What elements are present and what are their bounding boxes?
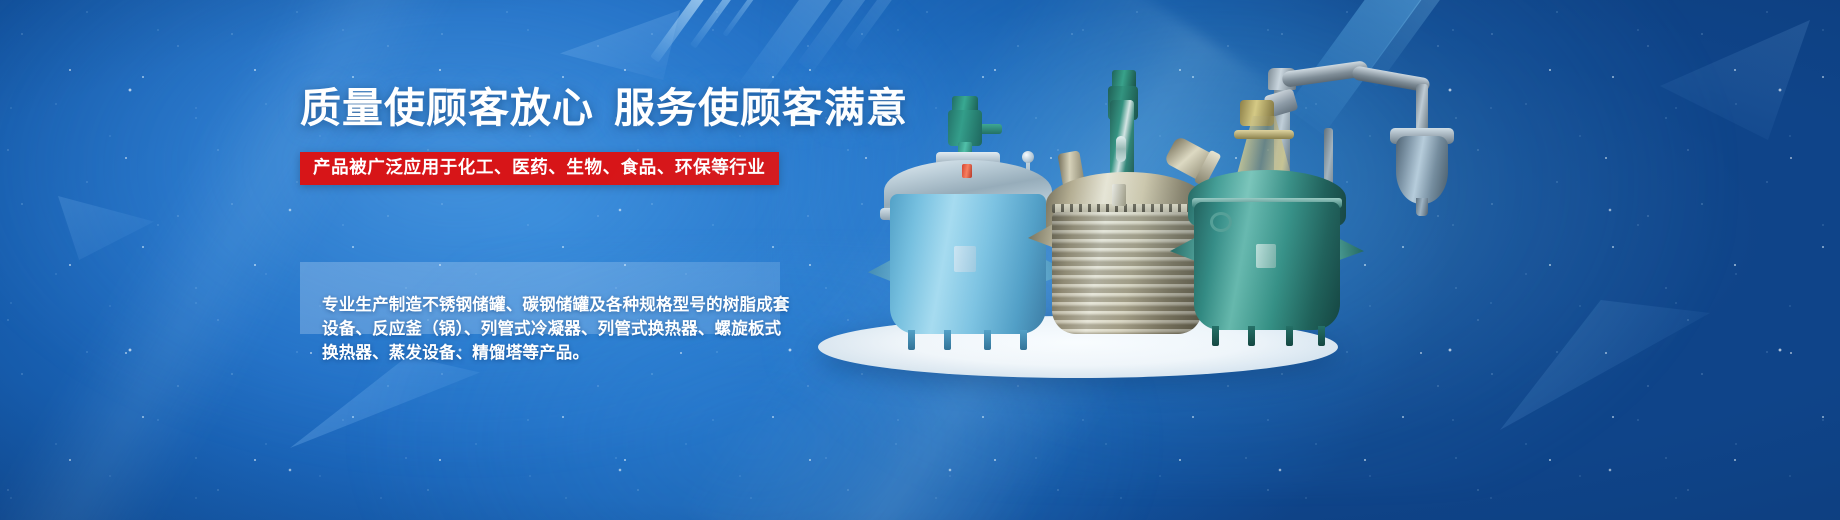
blue-reactor-gearbox — [948, 110, 982, 146]
blue-reactor-leg-3 — [984, 330, 991, 350]
blue-reactor-leg-1 — [908, 330, 915, 350]
description-text: 专业生产制造不锈钢储罐、碳钢储罐及各种规格型号的树脂成套 设备、反应釜（锅）、列… — [322, 294, 792, 366]
description-line-3: 换热器、蒸发设备、精馏塔等产品。 — [322, 342, 792, 366]
green-reactor-nameplate — [1256, 244, 1276, 268]
applications-badge: 产品被广泛应用于化工、医药、生物、食品、环保等行业 — [300, 152, 779, 185]
green-reactor-leg-3 — [1286, 326, 1293, 346]
blue-reactor-valve — [962, 164, 972, 178]
green-reactor-leg-4 — [1318, 326, 1325, 346]
banner-copy-block: 质量使顾客放心服务使顾客满意 产品被广泛应用于化工、医药、生物、食品、环保等行业 — [300, 88, 820, 185]
green-reactor-vessel — [1178, 94, 1354, 352]
headline-part-one: 质量使顾客放心 — [300, 85, 594, 131]
green-reactor-leg-1 — [1212, 326, 1219, 346]
green-reactor-leg-2 — [1248, 326, 1255, 346]
blue-reactor-nameplate — [954, 246, 976, 272]
description-line-2: 设备、反应釜（锅）、列管式冷凝器、列管式换热器、螺旋板式 — [322, 318, 792, 342]
banner-headline: 质量使顾客放心服务使顾客满意 — [300, 88, 820, 129]
blue-reactor-leg-2 — [944, 330, 951, 350]
green-reactor-handwheel — [1210, 212, 1232, 232]
steel-reactor-view-port — [1112, 184, 1126, 206]
product-banner: 质量使顾客放心服务使顾客满意 产品被广泛应用于化工、医药、生物、食品、环保等行业… — [0, 0, 1840, 520]
steel-reactor-sight-glass — [1116, 136, 1126, 162]
green-reactor-drive-ring — [1234, 130, 1294, 139]
product-image-group — [800, 30, 1460, 390]
description-line-1: 专业生产制造不锈钢储罐、碳钢储罐及各种规格型号的树脂成套 — [322, 294, 792, 318]
condenser-outlet — [1416, 198, 1428, 216]
blue-reactor-leg-4 — [1020, 330, 1027, 350]
condenser-body — [1396, 136, 1448, 204]
